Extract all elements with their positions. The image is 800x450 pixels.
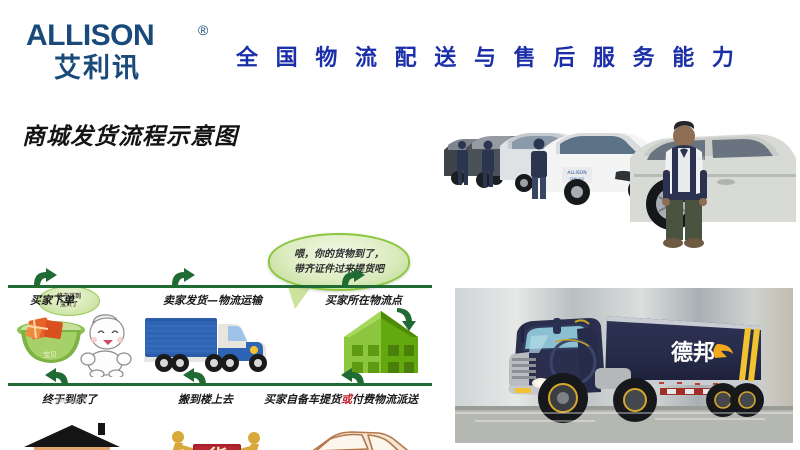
flow-arrow-icon [338,267,368,287]
svg-text:ALLISON: ALLISON [567,170,586,176]
diagram-title: 商城发货流程示意图 [22,117,238,151]
flow-arrow-icon [42,367,72,387]
home-house-icon [22,423,122,450]
step-caption-pickup-or-delivery: 买家自备车提货或付费物流派送 [264,391,418,407]
watermark-text: pic.com [56,395,87,405]
deppon-logistics-truck-photo: 德邦 [455,288,793,443]
service-vehicle-fleet-photo: ALLISON SERVICE [444,112,796,267]
flow-rail-top [8,285,432,288]
step-caption-carry-upstairs: 搬到楼上去 [178,391,233,407]
pickup-text: 买家自备车提货 [264,393,341,406]
page-title: 全 国 物 流 配 送 与 售 后 服 务 能 力 [236,40,776,72]
logo-english-text: ALLISON [26,20,216,52]
flow-arrow-icon [30,267,60,287]
step-caption-seller-ship: 卖家发货—物流运输 [163,292,262,308]
flow-arrow-icon [180,367,210,387]
svg-text:宝贝: 宝贝 [43,350,57,359]
step-caption-buyer-order: 买家下单 [30,292,74,308]
svg-text:ALLISON: ALLISON [696,156,713,161]
logo-chinese-text: 艾利讯 [54,54,216,84]
speech-bubble-tail [288,287,311,309]
company-logo: ALLISON ® 艾利讯 [26,20,216,92]
flow-arrow-down-icon [392,305,418,331]
flow-arrow-icon [168,267,198,287]
car-icon [296,423,420,450]
delivery-text: 付费物流派送 [352,393,418,406]
or-text: 或 [341,393,352,406]
slide-canvas: ALLISON ® 艾利讯 全 国 物 流 配 送 与 售 后 服 务 能 力 … [0,0,800,450]
flow-arrow-icon [338,367,368,387]
speech-bubble-line-1: 喂，你的货物到了， [294,247,384,262]
movers-cargo-icon: 货 [162,425,272,450]
cargo-box-label: 货 [207,446,228,450]
step-caption-local-depot: 买家所在物流点 [325,292,402,308]
buyer-person-icon [78,311,134,377]
registered-trademark-icon: ® [198,22,208,38]
truck-brand-label: 德邦 [671,340,715,366]
shipping-flow-diagram: 商城发货流程示意图 喂，你的货物到了， 带齐证件过来提货吧 终于买到 宝贝了 宝… [0,105,440,425]
